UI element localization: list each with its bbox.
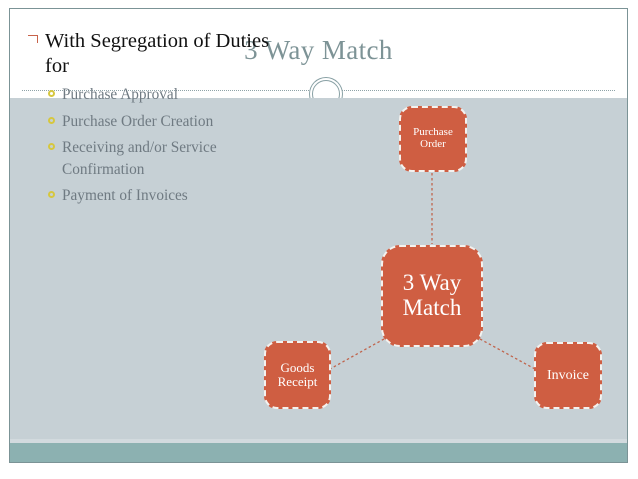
ring-bullet-icon (48, 191, 55, 198)
list-item: Receiving and/or Service Confirmation (26, 137, 278, 180)
diagram-node-purchase-order[interactable]: Purchase Order (399, 106, 467, 172)
node-label: Purchase Order (413, 127, 453, 151)
ring-bullet-icon (48, 143, 55, 150)
ring-bullet-icon (48, 117, 55, 124)
list-item: Payment of Invoices (26, 185, 278, 207)
diagram-node-goods-receipt[interactable]: Goods Receipt (264, 341, 331, 409)
list-item-label: Purchase Approval (62, 86, 178, 103)
list-item: Purchase Approval (26, 84, 278, 106)
list-item-label: Purchase Order Creation (62, 113, 213, 130)
list-item: Purchase Order Creation (26, 111, 278, 133)
diagram-node-center-3-way-match[interactable]: 3 Way Match (381, 245, 483, 347)
list-item-heading: With Segregation of Duties for (26, 29, 278, 79)
node-label: Invoice (547, 368, 589, 383)
bullet-list: With Segregation of Duties for Purchase … (26, 29, 278, 207)
slide-canvas: 3 Way Match With Segregation of Duties f… (9, 8, 628, 463)
ring-bullet-icon (48, 90, 55, 97)
corner-bracket-bullet-icon (28, 35, 38, 43)
node-label: 3 Way Match (403, 271, 462, 321)
list-item-label: With Segregation of Duties for (45, 30, 269, 77)
footer-band (10, 443, 627, 462)
node-label: Goods Receipt (278, 361, 318, 389)
list-item-label: Payment of Invoices (62, 187, 188, 204)
list-item-label: Receiving and/or Service Confirmation (62, 139, 217, 178)
diagram-node-invoice[interactable]: Invoice (534, 342, 602, 409)
